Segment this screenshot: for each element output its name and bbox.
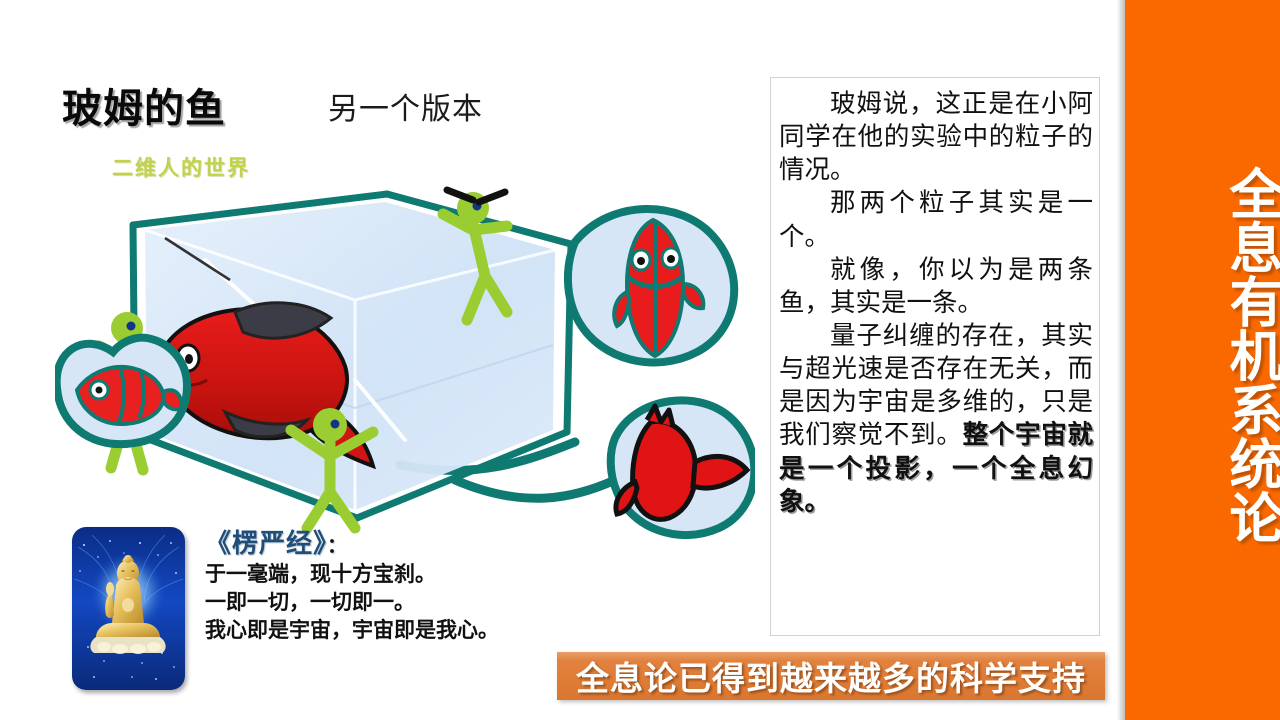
sutra-title-colon: ： <box>327 533 348 557</box>
commentary-paragraph-4: 量子纠缠的存在，其实与超光速是否存在无关，而是因为宇宙是多维的，只是我们察觉不到… <box>779 320 1093 519</box>
paragraph-1-text: 玻姆说，这正是在小阿同学在他的实验中的粒子的情况。 <box>779 89 1093 185</box>
page-subtitle: 另一个版本 <box>328 84 483 128</box>
bubble-top-right <box>568 209 734 362</box>
sidebar-shadow <box>1117 0 1125 720</box>
sutra-line-3: 我心即是宇宙，宇宙即是我心。 <box>205 616 625 644</box>
bubble-bottom-right <box>611 400 755 535</box>
bottom-banner-text: 全息论已得到越来越多的科学支持 <box>576 652 1086 700</box>
commentary-paragraph-1: 玻姆说，这正是在小阿同学在他的实验中的粒子的情况。 <box>779 88 1093 187</box>
sidebar-vertical-title: 全息有机系统论 <box>1125 155 1280 555</box>
bubble-left <box>57 338 187 445</box>
sutra-line-1: 于一毫端，现十方宝刹。 <box>205 560 625 588</box>
page-title: 玻姆的鱼 <box>62 76 226 134</box>
two-dimensional-world-label: 二维人的世界 <box>112 152 250 182</box>
sutra-quote-block: 《楞严经》： 于一毫端，现十方宝刹。 一即一切，一切即一。 我心即是宇宙，宇宙即… <box>205 530 625 644</box>
sutra-title: 《楞严经》： <box>205 530 625 560</box>
sutra-line-2: 一即一切，一切即一。 <box>205 588 625 616</box>
commentary-textbox: 玻姆说，这正是在小阿同学在他的实验中的粒子的情况。 那两个粒子其实是一个。 就像… <box>770 77 1100 636</box>
commentary-paragraph-2: 那两个粒子其实是一个。 <box>779 187 1093 253</box>
commentary-paragraph-3: 就像，你以为是两条鱼，其实是一条。 <box>779 254 1093 320</box>
bohm-fish-illustration <box>55 180 755 540</box>
sutra-title-text: 《楞严经》 <box>205 529 327 559</box>
sidebar-orange-panel: 全息有机系统论 <box>1125 0 1280 720</box>
bottom-banner: 全息论已得到越来越多的科学支持 <box>557 652 1105 700</box>
paragraph-2-text: 那两个粒子其实是一个。 <box>779 188 1093 251</box>
slide-canvas: 玻姆的鱼 另一个版本 二维人的世界 <box>0 0 1280 720</box>
buddha-photo <box>72 527 185 690</box>
paragraph-3-text: 就像，你以为是两条鱼，其实是一条。 <box>779 255 1093 318</box>
